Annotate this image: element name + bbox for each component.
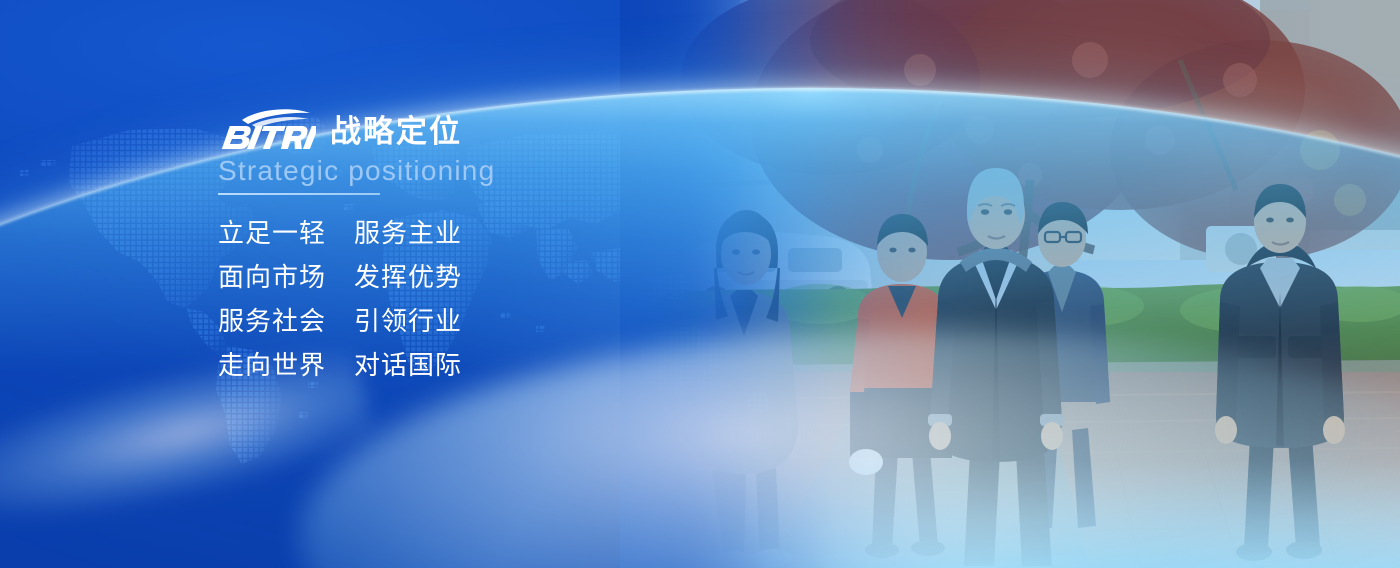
title-chinese: 战略定位 <box>330 115 462 149</box>
slogan-list: 立足一轻 服务主业 面向市场 发挥优势 服务社会 引领行业 走向世界 对话国际 <box>218 211 648 387</box>
slogan-left: 服务社会 <box>218 299 354 343</box>
subtitle-english: Strategic positioning <box>218 154 648 188</box>
slogan-left: 立足一轻 <box>218 211 354 255</box>
bitri-logo <box>218 106 316 150</box>
slogan-left: 面向市场 <box>218 255 354 299</box>
campus-walk-photo <box>620 0 1400 568</box>
slogan-left: 走向世界 <box>218 343 354 387</box>
title-underline-rule <box>218 193 380 195</box>
slogan-right: 服务主业 <box>354 211 462 255</box>
banner-content: 战略定位 Strategic positioning 立足一轻 服务主业 面向市… <box>218 104 648 387</box>
slogan-line: 立足一轻 服务主业 <box>218 211 648 255</box>
slogan-line: 服务社会 引领行业 <box>218 299 648 343</box>
title-row: 战略定位 <box>218 104 648 150</box>
strategic-positioning-banner: 战略定位 Strategic positioning 立足一轻 服务主业 面向市… <box>0 0 1400 568</box>
slogan-line: 走向世界 对话国际 <box>218 343 648 387</box>
bitri-swoosh-icon <box>242 109 310 128</box>
slogan-line: 面向市场 发挥优势 <box>218 255 648 299</box>
slogan-right: 发挥优势 <box>354 255 462 299</box>
slogan-right: 对话国际 <box>354 343 462 387</box>
slogan-right: 引领行业 <box>354 299 462 343</box>
